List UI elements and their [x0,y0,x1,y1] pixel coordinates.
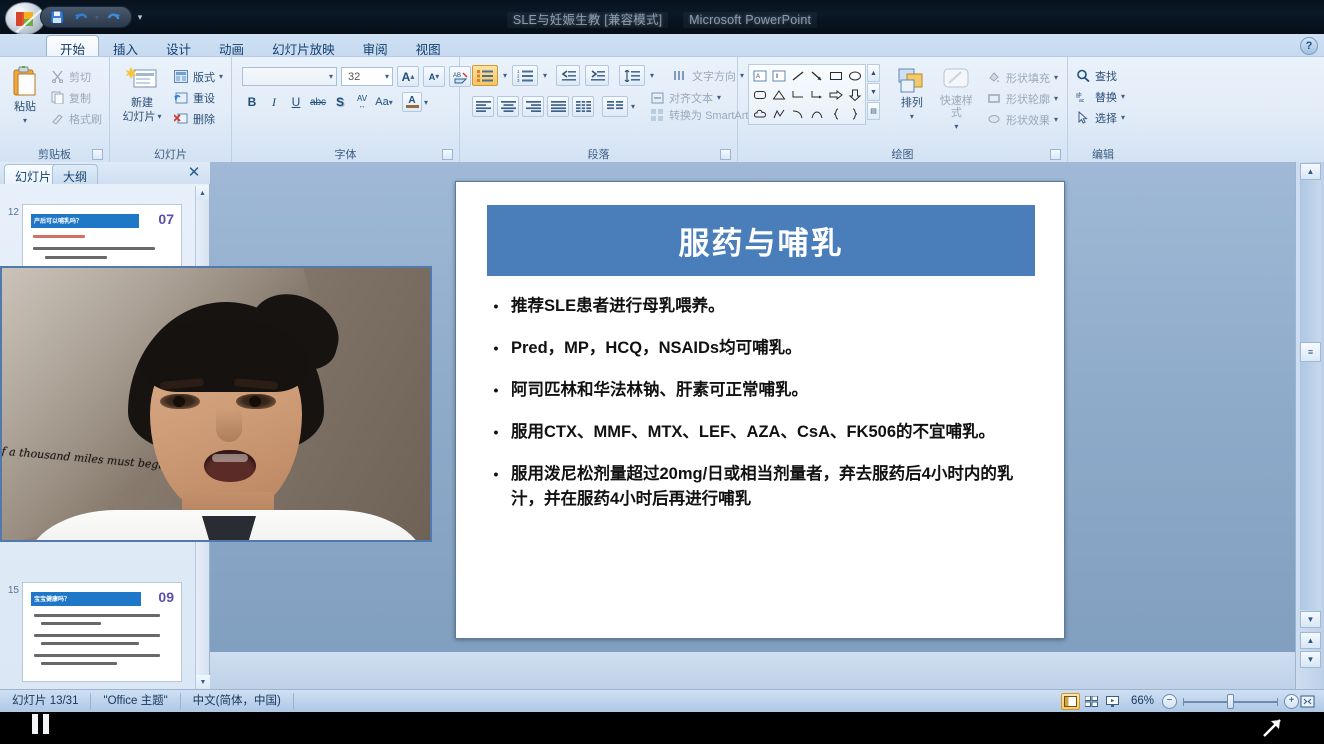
shape-effects-label: 形状效果 [1006,112,1050,128]
thumbnail-12-corner-number: 07 [158,211,174,227]
bullet-text: 阿司匹林和华法林钠、肝素可正常哺乳。 [511,378,1037,403]
bullet-marker: • [492,294,500,319]
decrease-indent-icon [561,70,576,82]
replace-button[interactable]: abac 替换 ▾ [1072,86,1128,107]
shape-outline-icon [986,91,1002,107]
group-editing: 查找 abac 替换 ▾ [1068,57,1138,163]
thumbnail-15-line-3 [34,634,160,637]
thumbnail-15-canvas: 宝宝健康吗？ 09 [23,583,181,681]
svg-text:3: 3 [517,78,520,82]
scrollbar-thumb[interactable]: ≡ [1300,342,1321,362]
columns-dropdown-icon[interactable]: ▾ [631,102,635,111]
fit-to-window-icon [1300,695,1315,708]
increase-indent-icon [590,70,605,82]
align-right-icon [526,101,541,112]
slide-body[interactable]: • 推荐SLE患者进行母乳喂养。 • Pred，MP，HCQ，NSAIDs均可哺… [492,294,1037,529]
group-slides: 新建 幻灯片 ▾ [110,57,232,163]
shape-fill-icon [986,70,1002,86]
columns-icon [607,101,623,112]
app-name: Microsoft PowerPoint [683,12,817,28]
text-shadow-button[interactable]: S [330,92,350,112]
shape-rectangle-icon[interactable] [826,66,845,85]
shape-line-icon[interactable] [788,66,807,85]
strikethrough-label: abc [310,97,326,108]
find-label: 查找 [1095,68,1117,84]
notes-pane: 单击此处添加备注 [210,652,1295,689]
arrange-label: 排列 [901,97,923,109]
align-right-button[interactable] [522,96,544,117]
decrease-indent-button[interactable] [556,65,580,86]
font-color-label: A [408,97,415,105]
normal-view-icon [1064,696,1077,707]
bullet-text: 服用泼尼松剂量超过20mg/日或相当剂量者，弃去服药后4小时内的乳汁，并在服药4… [511,462,1037,512]
columns-button[interactable] [602,96,628,117]
language-indicator[interactable]: 中文(简体，中国) [181,693,294,710]
group-label-editing: 编辑 [1072,147,1134,163]
slide-sorter-button[interactable] [1082,693,1101,710]
distribute-button[interactable] [572,96,594,117]
font-size-value: 32 [345,71,385,83]
layout-dropdown-icon[interactable]: ▾ [219,72,223,81]
align-left-button[interactable] [472,96,494,117]
grow-font-button[interactable]: A▴ [397,66,419,87]
paragraph-dialog-launcher[interactable] [720,149,731,160]
arrange-dropdown-icon[interactable]: ▾ [910,111,914,123]
shape-left-brace-icon[interactable] [826,104,845,123]
format-painter-label: 格式刷 [69,111,102,127]
group-drawing: A ‖ [738,57,1068,163]
thumbnail-12-line-2 [45,256,107,259]
text-direction-button[interactable]: 文字方向 ▾ [669,65,747,86]
pause-button[interactable] [32,714,58,734]
slide-title-text: 服药与哺乳 [679,218,844,263]
bullet-item: • Pred，MP，HCQ，NSAIDs均可哺乳。 [492,336,1037,361]
paste-icon [8,65,42,99]
format-painter-icon [49,111,65,127]
delete-slide-button[interactable]: 删除 [170,108,226,129]
cut-button[interactable]: 剪切 [46,66,105,87]
pause-icon-bar-1 [32,714,38,734]
quick-styles-icon [941,67,971,93]
replace-icon: abac [1075,89,1091,105]
presenter-video[interactable]: of a thousand miles must begin with a si… [0,266,432,542]
bold-label: B [248,95,257,109]
line-spacing-button[interactable] [619,65,645,86]
spacing-label: AV [357,94,367,103]
tab-design[interactable]: 设计 [152,35,205,56]
thumbnail-15-line-6 [41,662,117,665]
new-slide-icon [126,65,158,95]
ribbon-content: 粘贴 ▾ 剪切 [0,56,1324,162]
paste-label: 粘贴 [14,101,36,113]
powerpoint-window: ▾ ▾ SLE与妊娠生教 [兼容模式] Microsoft PowerPoint… [0,0,1324,744]
nose [216,408,242,442]
svg-text:ac: ac [1079,98,1085,103]
thumbnail-12-red-line [33,235,85,238]
align-center-button[interactable] [497,96,519,117]
ribbon-tabs: 开始 插入 设计 动画 幻灯片放映 审阅 视图 [46,34,455,56]
align-text-label: 对齐文本 [669,90,713,106]
shape-effects-icon [986,112,1002,128]
tab-insert[interactable]: 插入 [99,35,152,56]
expand-icon [1258,714,1288,740]
select-label: 选择 [1095,110,1117,126]
pane-scroll-up-icon[interactable]: ▲ [196,186,209,200]
group-label-font: 字体 [236,147,455,163]
window-title: SLE与妊娠生教 [兼容模式] Microsoft PowerPoint [0,9,1324,28]
justify-button[interactable] [547,96,569,117]
shape-outline-button[interactable]: 形状轮廓 ▾ [983,88,1061,109]
zoom-in-button[interactable]: + [1284,694,1299,709]
thumbnail-15-line-5 [34,654,160,657]
help-button[interactable]: ? [1300,37,1318,55]
shapes-more-icon[interactable]: ▤ [867,102,880,120]
shape-down-arrow-icon[interactable] [845,85,864,104]
shape-rounded-rectangle-icon[interactable] [750,85,769,104]
strikethrough-button[interactable]: abc [308,92,328,112]
shape-fill-label: 形状填充 [1006,70,1050,86]
ribbon: 开始 插入 设计 动画 幻灯片放映 审阅 视图 ? [0,34,1324,162]
shape-vertical-textbox-icon[interactable]: ‖ [769,66,788,85]
font-name-dropdown-icon[interactable]: ▾ [329,72,333,81]
bullet-item: • 服用泼尼松剂量超过20mg/日或相当剂量者，弃去服药后4小时内的乳汁，并在服… [492,462,1037,512]
group-label-clipboard: 剪贴板 [4,147,105,163]
coat-neckline [202,516,256,542]
slide-title-banner[interactable]: 服药与哺乳 [487,205,1035,276]
thumbnail-15-line-1 [34,614,160,617]
cut-label: 剪切 [69,69,91,85]
tab-review[interactable]: 审阅 [349,35,402,56]
shape-elbow-arrow-icon[interactable] [807,85,826,104]
presenter-figure [98,302,354,542]
new-slide-button[interactable]: 新建 幻灯片 ▾ [114,62,170,126]
font-color-dropdown-icon[interactable]: ▾ [424,98,428,107]
shape-freeform-icon[interactable] [769,104,788,123]
thumbnail-12-line-1 [33,247,155,250]
slide-sorter-icon [1085,696,1098,707]
bullets-dropdown-icon[interactable]: ▾ [503,71,507,80]
numbered-list-icon: 1 2 3 [517,69,533,82]
font-color-button[interactable]: A [402,92,422,112]
cursor-icon [1075,110,1091,126]
underline-label: U [292,95,301,109]
align-text-icon [649,90,665,106]
scrollbar-track[interactable] [1300,180,1321,610]
bullet-item: • 服用CTX、MMF、MTX、LEF、AZA、CsA、FK506的不宜哺乳。 [492,420,1037,445]
layout-icon [173,69,189,85]
shape-effects-button[interactable]: 形状效果 ▾ [983,109,1061,130]
group-paragraph: ▾ 1 2 3 ▾ [460,57,738,163]
italic-button[interactable]: I [264,92,284,112]
shapes-scroll[interactable]: ▲ ▼ ▤ [867,64,880,125]
copy-button[interactable]: 复制 [46,87,105,108]
pause-icon-bar-2 [43,714,49,734]
paste-button[interactable]: 粘贴 ▾ [4,62,46,130]
bullet-item: • 推荐SLE患者进行母乳喂养。 [492,294,1037,319]
change-case-label: Aa [375,96,388,108]
slide-scrollbar[interactable]: ▲ ≡ ▼ ▲ ▼ [1295,162,1324,689]
shape-right-arrow-icon[interactable] [826,85,845,104]
line-spacing-icon [624,70,640,82]
thumbnail-15-title: 宝宝健康吗？ [31,592,141,603]
thumbnail-12-title: 产后可以哺乳吗？ [31,214,139,225]
tab-animations[interactable]: 动画 [205,35,258,56]
bullet-item: • 阿司匹林和华法林钠、肝素可正常哺乳。 [492,378,1037,403]
layout-label: 版式 [193,69,215,85]
delete-label: 删除 [193,111,215,127]
thumbnail-15-corner-number: 09 [158,589,174,605]
justify-icon [551,101,566,112]
convert-smartart-label: 转换为 SmartArt [669,107,748,123]
reset-icon [173,90,189,106]
slideshow-icon [1106,696,1119,707]
select-button[interactable]: 选择 ▾ [1072,107,1128,128]
quick-styles-dropdown-icon[interactable]: ▾ [954,121,958,133]
slide-counter: 幻灯片 13/31 [0,693,91,710]
close-pane-button[interactable]: ✕ [186,164,202,180]
delete-icon [173,111,189,127]
scroll-up-icon[interactable]: ▲ [1300,163,1321,180]
shape-cloud-icon[interactable] [750,104,769,123]
shrink-font-button[interactable]: A▾ [423,66,445,87]
bullet-text: 服用CTX、MMF、MTX、LEF、AZA、CsA、FK506的不宜哺乳。 [511,420,1037,445]
underline-button[interactable]: U [286,92,306,112]
slideshow-button[interactable] [1103,693,1122,710]
find-button[interactable]: 查找 [1072,65,1128,86]
font-size-combo[interactable]: 32 ▾ [341,67,393,86]
eye-right [236,394,276,409]
new-slide-label-1: 新建 [131,97,153,109]
font-name-combo[interactable]: ▾ [242,67,337,86]
thumbnail-number-12: 12 [3,207,19,218]
tab-outline[interactable]: 大纲 [52,164,98,184]
document-title: SLE与妊娠生教 [兼容模式] [507,12,669,28]
thumbnail-15-line-4 [41,642,139,645]
group-clipboard: 粘贴 ▾ 剪切 [0,57,110,163]
numbering-button[interactable]: 1 2 3 [512,65,538,86]
fullscreen-button[interactable] [1258,714,1288,740]
title-bar: ▾ ▾ SLE与妊娠生教 [兼容模式] Microsoft PowerPoint [0,0,1324,34]
shape-triangle-icon[interactable] [769,85,788,104]
search-icon [1075,68,1091,84]
zoom-out-button[interactable]: − [1162,694,1177,709]
grow-font-label: A [402,70,411,84]
bold-button[interactable]: B [242,92,262,112]
copy-icon [49,90,65,106]
svg-text:A: A [756,74,760,80]
pane-scroll-down-icon[interactable]: ▼ [196,675,210,689]
pane-tabs: 幻灯片 大纲 ✕ [0,162,210,184]
align-left-icon [476,101,491,112]
quick-styles-label: 快速样式 [936,95,977,119]
eye-left [160,394,200,409]
font-dialog-launcher[interactable] [442,149,453,160]
shapes-gallery[interactable]: A ‖ [748,64,866,125]
line-spacing-dropdown-icon[interactable]: ▾ [650,71,654,80]
bullet-marker: • [492,462,500,512]
theme-name[interactable]: "Office 主题" [91,693,180,710]
bullets-button[interactable] [472,65,498,86]
next-slide-button[interactable]: ▼ [1300,651,1321,668]
copy-label: 复制 [69,90,91,106]
shape-curve-icon[interactable] [788,104,807,123]
zoom-in-label: + [1289,696,1295,706]
arrange-button[interactable]: 排列 ▾ [890,64,934,126]
video-player-bar [0,712,1324,744]
shapes-scroll-up-icon[interactable]: ▲ [867,64,880,82]
group-label-slides: 幻灯片 [114,147,227,163]
text-direction-icon [672,68,688,84]
normal-view-button[interactable] [1061,693,1080,710]
zoom-out-label: − [1167,696,1173,706]
layout-button[interactable]: 版式 ▾ [170,66,226,87]
reset-label: 重设 [193,90,215,106]
shape-outline-label: 形状轮廓 [1006,91,1050,107]
replace-label: 替换 [1095,89,1117,105]
current-slide[interactable]: 服药与哺乳 • 推荐SLE患者进行母乳喂养。 • Pred，MP，HCQ，NSA… [455,181,1065,639]
tab-slideshow[interactable]: 幻灯片放映 [258,35,349,56]
shape-textbox-icon[interactable]: A [750,66,769,85]
quick-styles-button[interactable]: 快速样式 ▾ [934,64,979,136]
character-spacing-button[interactable]: AV↔ [352,92,372,112]
format-painter-button[interactable]: 格式刷 [46,108,105,129]
distributed-icon [576,101,591,112]
fit-to-window-button[interactable] [1299,694,1316,709]
bullet-marker: • [492,336,500,361]
numbering-dropdown-icon[interactable]: ▾ [543,71,547,80]
smartart-icon [649,107,665,123]
shadow-label: S [336,95,344,109]
drawing-dialog-launcher[interactable] [1050,149,1061,160]
new-slide-label-2: 幻灯片 [122,111,155,123]
status-bar: 幻灯片 13/31 "Office 主题" 中文(简体，中国) [0,689,1324,712]
align-center-icon [501,101,516,112]
shape-oval-icon[interactable] [845,66,864,85]
text-direction-label: 文字方向 [692,68,736,84]
thumbnail-15-line-2 [41,622,101,625]
clipboard-dialog-launcher[interactable] [92,149,103,160]
shape-right-brace-icon[interactable] [845,104,864,123]
group-label-drawing: 绘图 [742,147,1063,163]
thumbnail-15-title-bar: 宝宝健康吗？ [31,592,141,606]
arrange-icon [897,67,927,95]
thumbnail-12-title-bar: 产后可以哺乳吗？ [31,214,139,228]
bullet-marker: • [492,420,500,445]
new-slide-dropdown-icon[interactable]: ▾ [157,111,161,123]
tab-view[interactable]: 视图 [402,35,455,56]
svg-text:‖: ‖ [776,74,778,80]
slide-thumbnail-15[interactable]: 15 宝宝健康吗？ 09 [22,582,182,682]
thumbnail-number-15: 15 [3,585,19,596]
bullet-list-icon [477,69,493,82]
zoom-level: 66% [1123,695,1162,707]
increase-indent-button[interactable] [585,65,609,86]
bullet-text: Pred，MP，HCQ，NSAIDs均可哺乳。 [511,336,1037,361]
font-size-dropdown-icon[interactable]: ▾ [385,72,389,81]
scissors-icon [49,69,65,85]
shape-fill-button[interactable]: 形状填充 ▾ [983,67,1061,88]
paste-dropdown-icon[interactable]: ▾ [23,115,27,127]
shapes-scroll-down-icon[interactable]: ▼ [867,83,880,101]
bullet-marker: • [492,378,500,403]
italic-label: I [272,95,276,110]
mouth [204,450,256,482]
help-icon: ? [1306,40,1313,52]
previous-slide-button[interactable]: ▲ [1300,632,1321,649]
zoom-slider[interactable] [1183,693,1278,710]
group-font: ▾ 32 ▾ A▴ A▾ [232,57,460,163]
zoom-slider-handle[interactable] [1227,694,1234,709]
change-case-button[interactable]: Aa▾ [374,92,394,112]
tab-home[interactable]: 开始 [46,35,99,56]
shape-arc-icon[interactable] [807,104,826,123]
shape-elbow-connector-icon[interactable] [788,85,807,104]
group-label-paragraph: 段落 [464,147,733,163]
shape-arrow-icon[interactable] [807,66,826,85]
reset-button[interactable]: 重设 [170,87,226,108]
scroll-down-icon[interactable]: ▼ [1300,611,1321,628]
bullet-text: 推荐SLE患者进行母乳喂养。 [511,294,1037,319]
